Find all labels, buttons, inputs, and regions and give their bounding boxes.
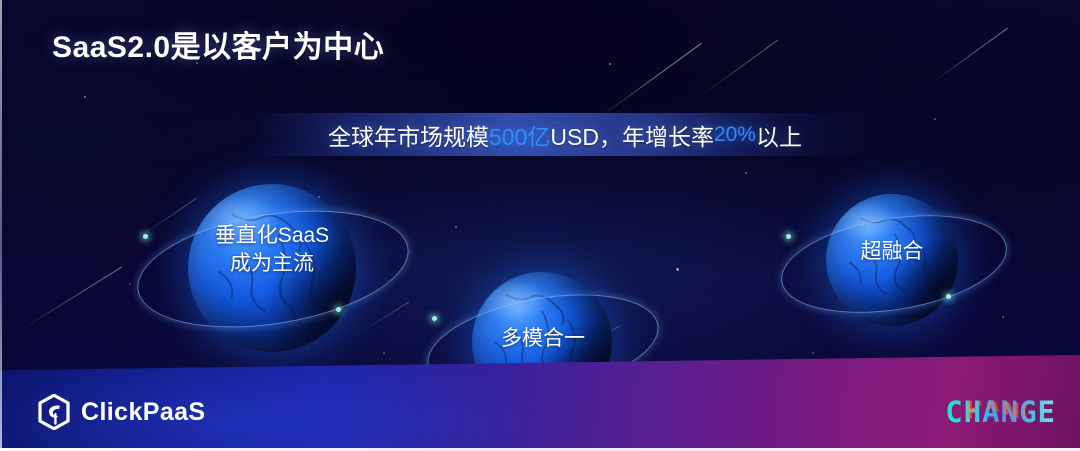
orb-hyper-converged <box>826 194 958 326</box>
subtitle-lead: 全球年市场规模 <box>328 118 489 152</box>
subtitle-tail: 以上 <box>756 118 802 152</box>
subtitle-text: 全球年市场规模 500亿 USD，年增长率 20% 以上 <box>250 113 880 156</box>
clickpaas-logo[interactable]: ClickPaaS <box>38 394 206 430</box>
orbit-dot <box>432 316 437 321</box>
market-size-value: 500亿 <box>489 118 550 152</box>
hexagon-leaf-logo-icon <box>38 394 70 430</box>
clickpaas-wordmark: ClickPaaS <box>81 398 206 427</box>
orbit-dot <box>143 234 148 239</box>
orb-vertical-saas <box>188 184 356 352</box>
orbit-dot <box>946 294 951 299</box>
growth-rate-value: 20% <box>714 123 756 147</box>
subtitle-mid: USD，年增长率 <box>550 118 714 152</box>
slide-left-border <box>0 0 2 451</box>
change-wordmark: CHANGE <box>945 395 1056 429</box>
page-title: SaaS2.0是以客户为中心 <box>52 22 384 66</box>
presentation-slide: SaaS2.0是以客户为中心 全球年市场规模 500亿 USD，年增长率 20%… <box>0 0 1080 451</box>
orbit-dot <box>786 234 791 239</box>
orbit-dot <box>336 307 341 312</box>
